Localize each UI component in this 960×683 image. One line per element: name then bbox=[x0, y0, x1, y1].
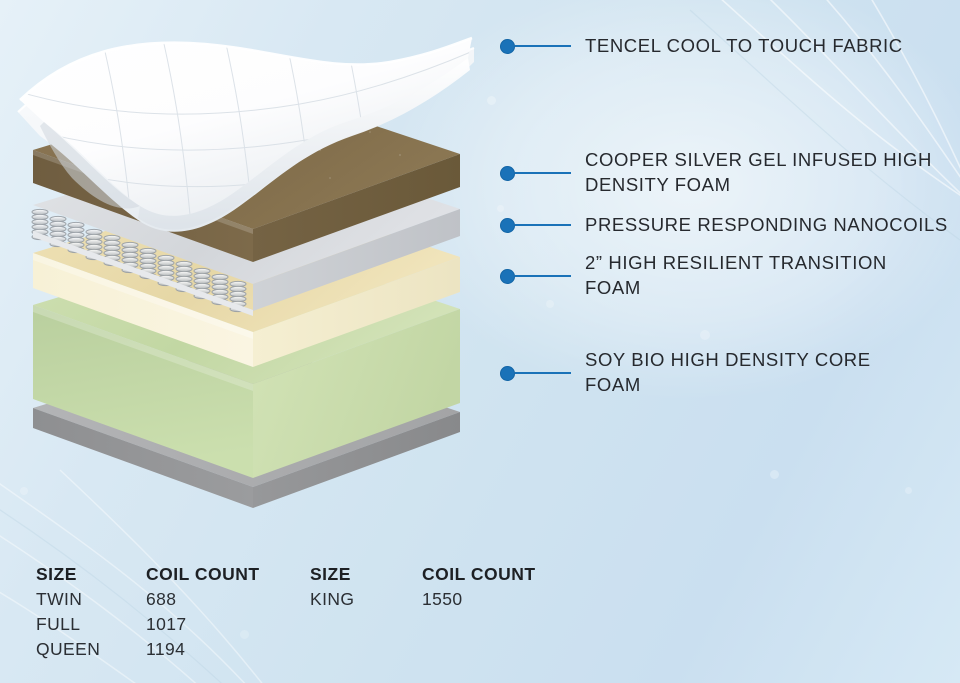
coil-count-table: SIZE TWIN FULL QUEEN COIL COUNT 688 1017… bbox=[36, 562, 582, 662]
callout-core-foam[interactable]: SOY BIO HIGH DENSITY CORE FOAM bbox=[500, 365, 871, 397]
callout-transition-foam[interactable]: 2” HIGH RESILIENT TRANSITION FOAM bbox=[500, 268, 887, 300]
callout-dot-icon bbox=[500, 269, 515, 284]
callout-dot-icon bbox=[500, 39, 515, 54]
callout-leader-line bbox=[515, 172, 571, 174]
bokeh-dot bbox=[770, 470, 779, 479]
coil-count-cell: 688 bbox=[146, 587, 310, 612]
size-cell: QUEEN bbox=[36, 637, 146, 662]
callout-leader-line bbox=[515, 45, 571, 47]
callout-leader-line bbox=[515, 275, 571, 277]
bokeh-dot bbox=[700, 330, 710, 340]
column-header-coil-count: COIL COUNT bbox=[146, 562, 310, 587]
coil-count-column-2: COIL COUNT 1550 bbox=[422, 562, 582, 662]
callout-label: 2” HIGH RESILIENT TRANSITION FOAM bbox=[585, 250, 887, 300]
callout-dot-icon bbox=[500, 166, 515, 181]
mattress-layer-infographic: TENCEL COOL TO TOUCH FABRIC COOPER SILVE… bbox=[0, 0, 960, 683]
coil-count-cell: 1194 bbox=[146, 637, 310, 662]
callout-leader-line bbox=[515, 224, 571, 226]
size-column-2: SIZE KING bbox=[310, 562, 422, 662]
callout-leader-line bbox=[515, 372, 571, 374]
size-cell: TWIN bbox=[36, 587, 146, 612]
callout-tencel[interactable]: TENCEL COOL TO TOUCH FABRIC bbox=[500, 38, 903, 58]
bokeh-dot bbox=[905, 487, 912, 494]
callout-label: SOY BIO HIGH DENSITY CORE FOAM bbox=[585, 347, 871, 397]
coil-count-cell: 1017 bbox=[146, 612, 310, 637]
size-cell: KING bbox=[310, 587, 422, 612]
callout-dot-icon bbox=[500, 366, 515, 381]
callout-nanocoils[interactable]: PRESSURE RESPONDING NANOCOILS bbox=[500, 217, 948, 237]
size-column-1: SIZE TWIN FULL QUEEN bbox=[36, 562, 146, 662]
column-header-size: SIZE bbox=[310, 562, 422, 587]
column-header-coil-count: COIL COUNT bbox=[422, 562, 582, 587]
coil-count-column-1: COIL COUNT 688 1017 1194 bbox=[146, 562, 310, 662]
coil-count-group-1: SIZE TWIN FULL QUEEN COIL COUNT 688 1017… bbox=[36, 562, 310, 662]
callout-copper-foam[interactable]: COOPER SILVER GEL INFUSED HIGH DENSITY F… bbox=[500, 165, 932, 197]
column-header-size: SIZE bbox=[36, 562, 146, 587]
callout-dot-icon bbox=[500, 218, 515, 233]
coil-count-group-2: SIZE KING COIL COUNT 1550 bbox=[310, 562, 582, 662]
size-cell: FULL bbox=[36, 612, 146, 637]
callout-label: PRESSURE RESPONDING NANOCOILS bbox=[585, 212, 948, 237]
mattress-exploded-illustration bbox=[0, 0, 500, 545]
callout-label: COOPER SILVER GEL INFUSED HIGH DENSITY F… bbox=[585, 147, 932, 197]
coil-count-cell: 1550 bbox=[422, 587, 582, 612]
bokeh-dot bbox=[546, 300, 554, 308]
callout-label: TENCEL COOL TO TOUCH FABRIC bbox=[585, 33, 903, 58]
